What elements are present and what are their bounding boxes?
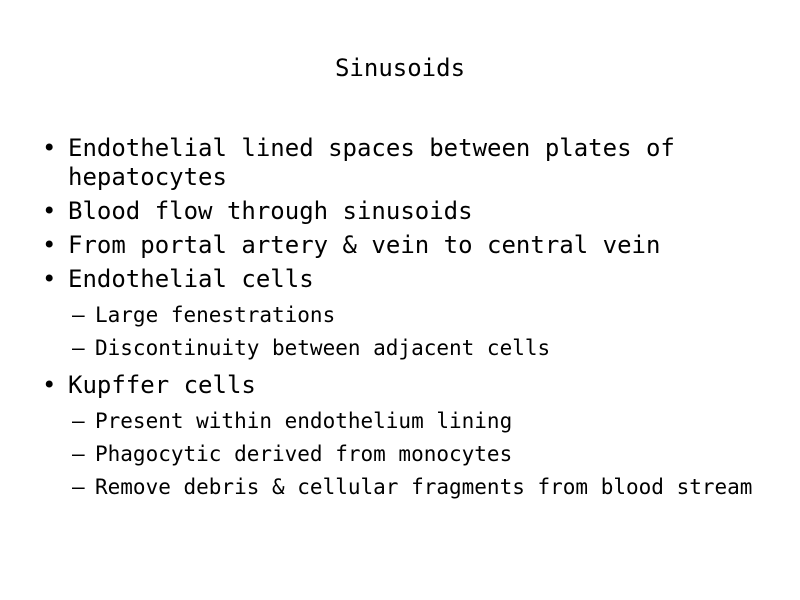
bullet-item-level2: – Phagocytic derived from monocytes (40, 442, 780, 467)
bullet-text: Large fenestrations (95, 303, 780, 328)
bullet-marker-icon: • (42, 371, 56, 400)
bullet-item-level1: • Endothelial cells (40, 265, 780, 294)
dash-marker-icon: – (72, 303, 85, 328)
bullet-text: Phagocytic derived from monocytes (95, 442, 780, 467)
bullet-item-level1: • Kupffer cells (40, 371, 780, 400)
bullet-text: Endothelial cells (68, 265, 780, 294)
bullet-text: Kupffer cells (68, 371, 780, 400)
bullet-item-level2: – Remove debris & cellular fragments fro… (40, 475, 780, 500)
presentation-slide: Sinusoids • Endothelial lined spaces bet… (0, 0, 800, 600)
dash-marker-icon: – (72, 442, 85, 467)
bullet-text: Present within endothelium lining (95, 409, 780, 434)
bullet-marker-icon: • (42, 265, 56, 294)
bullet-item-level2: – Discontinuity between adjacent cells (40, 336, 780, 361)
bullet-text: Remove debris & cellular fragments from … (95, 475, 780, 500)
dash-marker-icon: – (72, 409, 85, 434)
dash-marker-icon: – (72, 336, 85, 361)
bullet-marker-icon: • (42, 197, 56, 226)
bullet-item-level1: • From portal artery & vein to central v… (40, 231, 780, 260)
bullet-item-level1: • Endothelial lined spaces between plate… (40, 134, 780, 192)
bullet-marker-icon: • (42, 231, 56, 260)
bullet-text: Blood flow through sinusoids (68, 197, 780, 226)
slide-body-bullet-list: • Endothelial lined spaces between plate… (40, 134, 780, 508)
bullet-item-level1: • Blood flow through sinusoids (40, 197, 780, 226)
bullet-text: From portal artery & vein to central vei… (68, 231, 780, 260)
bullet-text: Discontinuity between adjacent cells (95, 336, 780, 361)
bullet-text: Endothelial lined spaces between plates … (68, 134, 780, 192)
dash-marker-icon: – (72, 475, 85, 500)
bullet-item-level2: – Present within endothelium lining (40, 409, 780, 434)
bullet-marker-icon: • (42, 134, 56, 163)
slide-title: Sinusoids (0, 54, 800, 82)
bullet-item-level2: – Large fenestrations (40, 303, 780, 328)
